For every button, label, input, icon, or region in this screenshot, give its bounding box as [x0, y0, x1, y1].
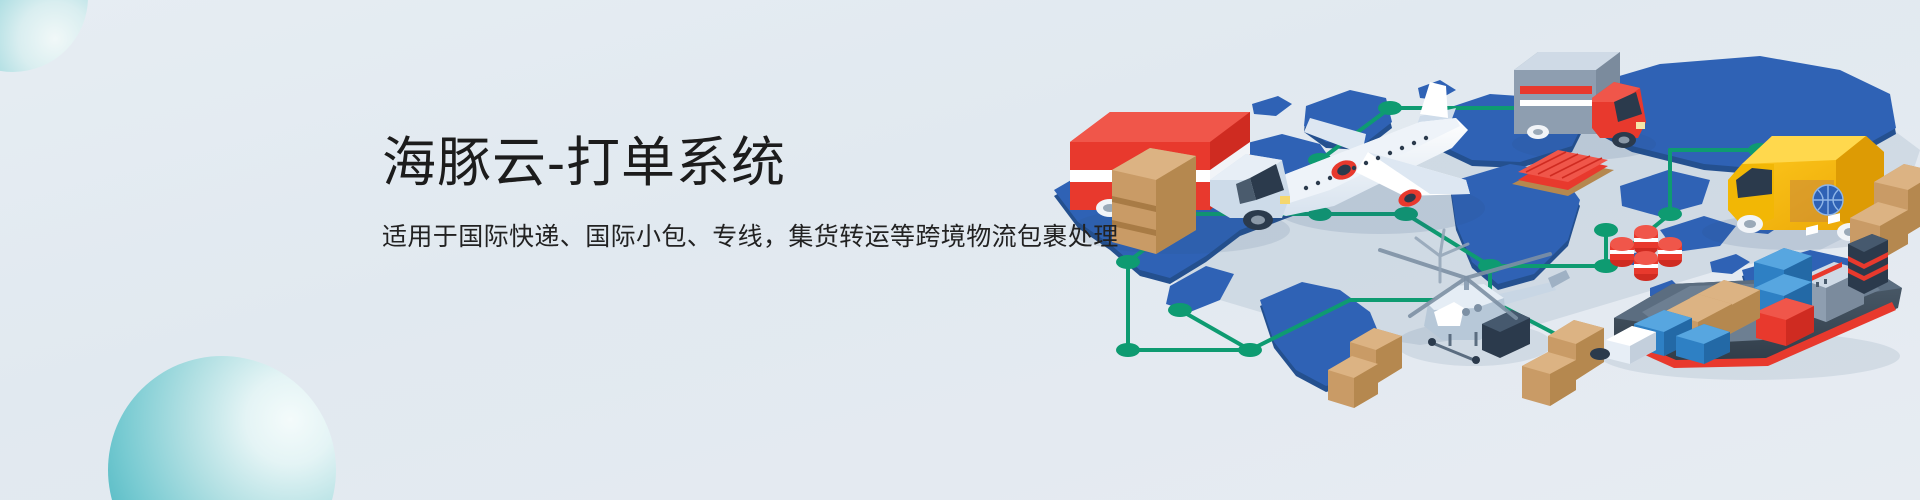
decorative-circle-top-left: [0, 0, 88, 72]
hero-banner: 海豚云-打单系统 适用于国际快递、国际小包、专线，集货转运等跨境物流包裹处理: [0, 0, 1920, 500]
box-truck: [1512, 52, 1656, 160]
ship-funnel: [1848, 234, 1888, 294]
page-title: 海豚云-打单系统: [382, 132, 1119, 195]
banner-copy: 海豚云-打单系统 适用于国际快递、国际小包、专线，集货转运等跨境物流包裹处理: [382, 132, 1119, 253]
decorative-circle-bottom-left: [108, 356, 336, 500]
logistics-illustration: [1020, 0, 1920, 500]
page-subtitle: 适用于国际快递、国际小包、专线，集货转运等跨境物流包裹处理: [382, 221, 1119, 254]
